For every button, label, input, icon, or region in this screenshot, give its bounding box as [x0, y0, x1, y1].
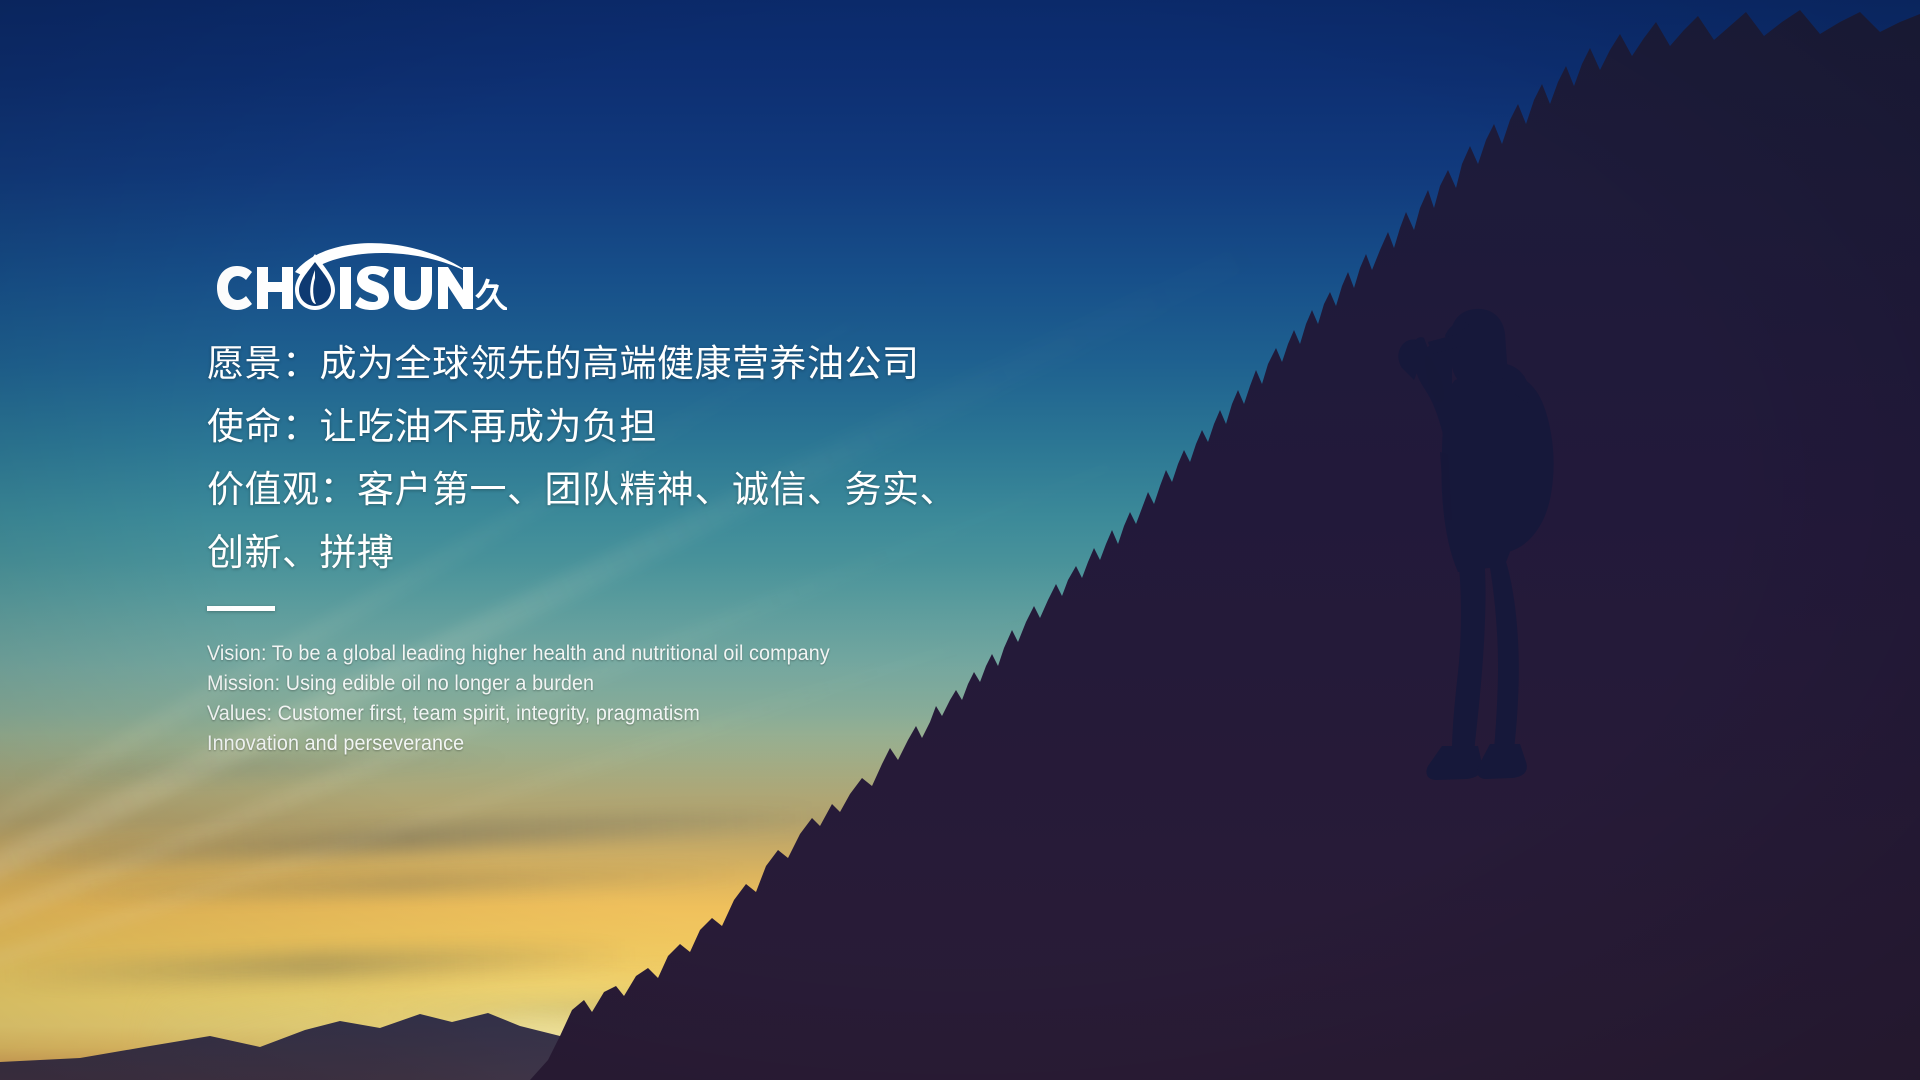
innovation-line-en: Innovation and perseverance — [207, 729, 1053, 759]
values-line-cn: 价值观：客户第一、团队精神、诚信、务实、 — [207, 458, 1107, 521]
content-block: 久晟 愿景：成为全球领先的高端健康营养油公司 使命：让吃油不再成为负担 价值观：… — [207, 240, 1107, 759]
chinese-statements: 愿景：成为全球领先的高端健康营养油公司 使命：让吃油不再成为负担 价值观：客户第… — [207, 332, 1107, 584]
english-statements: Vision: To be a global leading higher he… — [207, 639, 1053, 759]
slide-canvas: 久晟 愿景：成为全球领先的高端健康营养油公司 使命：让吃油不再成为负担 价值观：… — [0, 0, 1920, 1080]
logo-chinese-mark: 久晟 — [475, 277, 507, 310]
vision-line-cn: 愿景：成为全球领先的高端健康营养油公司 — [207, 332, 1107, 395]
mission-line-en: Mission: Using edible oil no longer a bu… — [207, 669, 1053, 699]
mission-line-cn: 使命：让吃油不再成为负担 — [207, 395, 1107, 458]
logo-wordmark-glyphs — [217, 254, 473, 310]
brand-logo[interactable]: 久晟 — [207, 240, 507, 310]
vision-line-en: Vision: To be a global leading higher he… — [207, 639, 1053, 669]
values-line-en: Values: Customer first, team spirit, int… — [207, 699, 1053, 729]
values-line-cn-cont: 创新、拼搏 — [207, 521, 1107, 584]
water-droplet-icon — [295, 254, 335, 310]
section-divider — [207, 606, 275, 611]
